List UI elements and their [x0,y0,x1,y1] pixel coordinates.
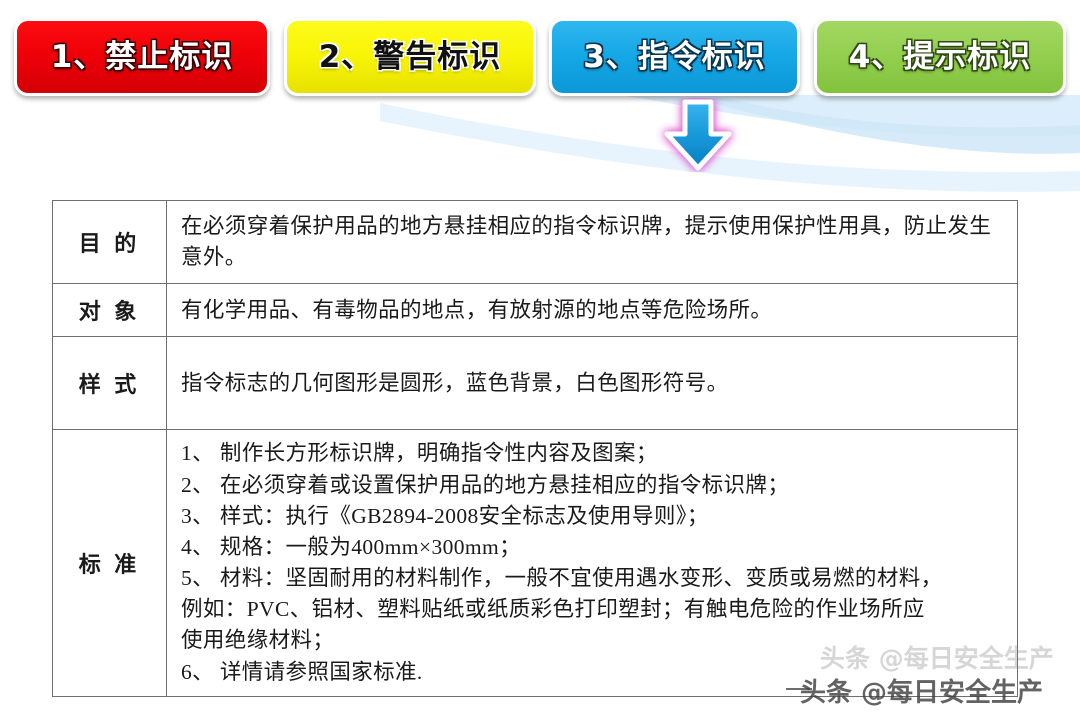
standard-line: 1、 制作长方形标识牌，明确指令性内容及图案； [181,438,1005,469]
row-value-standard: 1、 制作长方形标识牌，明确指令性内容及图案； 2、 在必须穿着或设置保护用品的… [167,430,1018,696]
tab-warning-label: 2、警告标识 [319,42,502,73]
standard-line: 6、 详情请参照国家标准. [181,657,1005,688]
row-value-style: 指令标志的几何图形是圆形，蓝色背景，白色图形符号。 [167,337,1018,430]
row-value-object: 有化学用品、有毒物品的地点，有放射源的地点等危险场所。 [167,284,1018,337]
table-row-style: 样 式 指令标志的几何图形是圆形，蓝色背景，白色图形符号。 [53,337,1018,430]
standard-line: 4、 规格：一般为400mm×300mm； [181,532,1005,563]
standard-line: 5、 材料：坚固耐用的材料制作，一般不宜使用遇水变形、变质或易燃的材料， [181,563,1005,594]
category-tab-bar: 1、禁止标识 2、警告标识 3、指令标识 4、提示标识 [0,0,1080,110]
watermark-rule [786,688,812,690]
row-label-object: 对 象 [53,284,167,337]
standard-line: 例如：PVC、铝材、塑料贴纸或纸质彩色打印塑封；有触电危险的作业场所应 [181,594,1005,625]
table-row-purpose: 目 的 在必须穿着保护用品的地方悬挂相应的指令标识牌，提示使用保护性用具，防止发… [53,201,1018,284]
row-label-purpose: 目 的 [53,201,167,284]
table-row-object: 对 象 有化学用品、有毒物品的地点，有放射源的地点等危险场所。 [53,284,1018,337]
row-label-standard: 标 准 [53,430,167,696]
tab-prohibition-signs[interactable]: 1、禁止标识 [14,18,270,96]
tab-warning-signs[interactable]: 2、警告标识 [284,18,536,96]
down-arrow-icon [651,98,745,172]
tab-notice-label: 4、提示标识 [849,42,1032,73]
tab-notice-signs[interactable]: 4、提示标识 [814,18,1066,96]
tab-prohibition-label: 1、禁止标识 [51,42,234,73]
sign-specification-table: 目 的 在必须穿着保护用品的地方悬挂相应的指令标识牌，提示使用保护性用具，防止发… [52,200,1018,697]
tab-mandatory-label: 3、指令标识 [583,42,766,73]
row-value-purpose: 在必须穿着保护用品的地方悬挂相应的指令标识牌，提示使用保护性用具，防止发生意外。 [167,201,1018,284]
row-label-style: 样 式 [53,337,167,430]
standard-line: 使用绝缘材料； [181,625,1005,656]
slide-canvas: 1、禁止标识 2、警告标识 3、指令标识 4、提示标识 [0,0,1080,720]
standard-line: 3、 样式：执行《GB2894-2008安全标志及使用导则》； [181,501,1005,532]
standard-line: 2、 在必须穿着或设置保护用品的地方悬挂相应的指令标识牌； [181,470,1005,501]
tab-mandatory-signs[interactable]: 3、指令标识 [549,18,800,96]
table-row-standard: 标 准 1、 制作长方形标识牌，明确指令性内容及图案； 2、 在必须穿着或设置保… [53,430,1018,696]
